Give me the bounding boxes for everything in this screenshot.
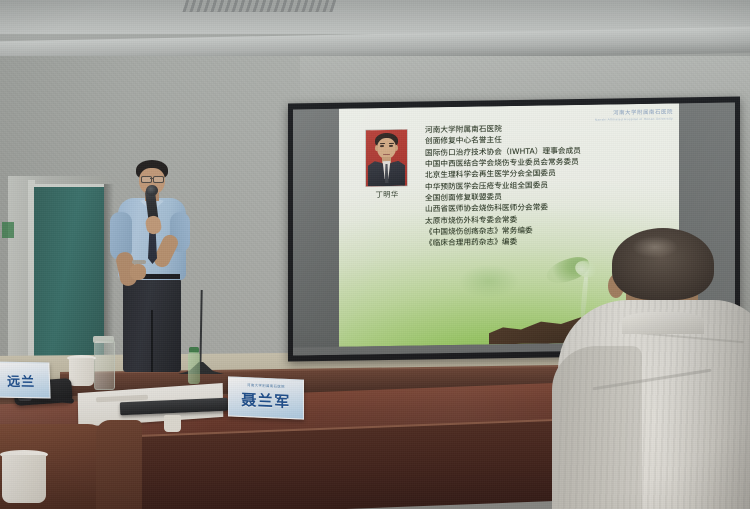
speaker-glasses-bridge (150, 178, 153, 179)
nameplate-left-label: 远兰 (0, 370, 49, 390)
slide-logo-cn: 河南大学附属南石医院 (595, 108, 673, 117)
paper-cup-small (164, 415, 181, 432)
microphone-head-icon (146, 185, 158, 196)
nameplate-center: 河南大学附属南石医院 聂兰军 (228, 376, 304, 419)
air-vent-icon (182, 0, 337, 12)
attendee-hair-highlight (632, 236, 678, 258)
speaker-leg-seam (151, 310, 153, 372)
exit-sign-icon (2, 222, 14, 238)
paper-cup-front (2, 455, 46, 503)
slide-hospital-logo: 河南大学附属南石医院 Nanshi Affiliated Hospital of… (595, 108, 673, 122)
nameplate-left: 远兰 (0, 361, 51, 398)
photo-scene: 河南大学附属南石医院 Nanshi Affiliated Hospital of… (0, 0, 750, 509)
speaker-lower-hand (130, 264, 146, 280)
slide-portrait-name: 丁明华 (358, 190, 416, 201)
paper-cup-back (69, 358, 94, 386)
nameplate-center-label: 聂兰军 (229, 388, 303, 412)
chair-left-secondary (96, 420, 142, 509)
screen-unlit-left (293, 109, 339, 356)
speaker-glasses-right-lens (153, 176, 164, 183)
slide-portrait-photo (366, 130, 407, 187)
attendee-shading (558, 300, 750, 509)
slide-bokeh (459, 264, 519, 299)
audience-member-foreground (562, 228, 750, 509)
speaker-wristwatch (132, 260, 146, 264)
water-bottle (188, 352, 200, 384)
tea-thermos (94, 340, 115, 390)
